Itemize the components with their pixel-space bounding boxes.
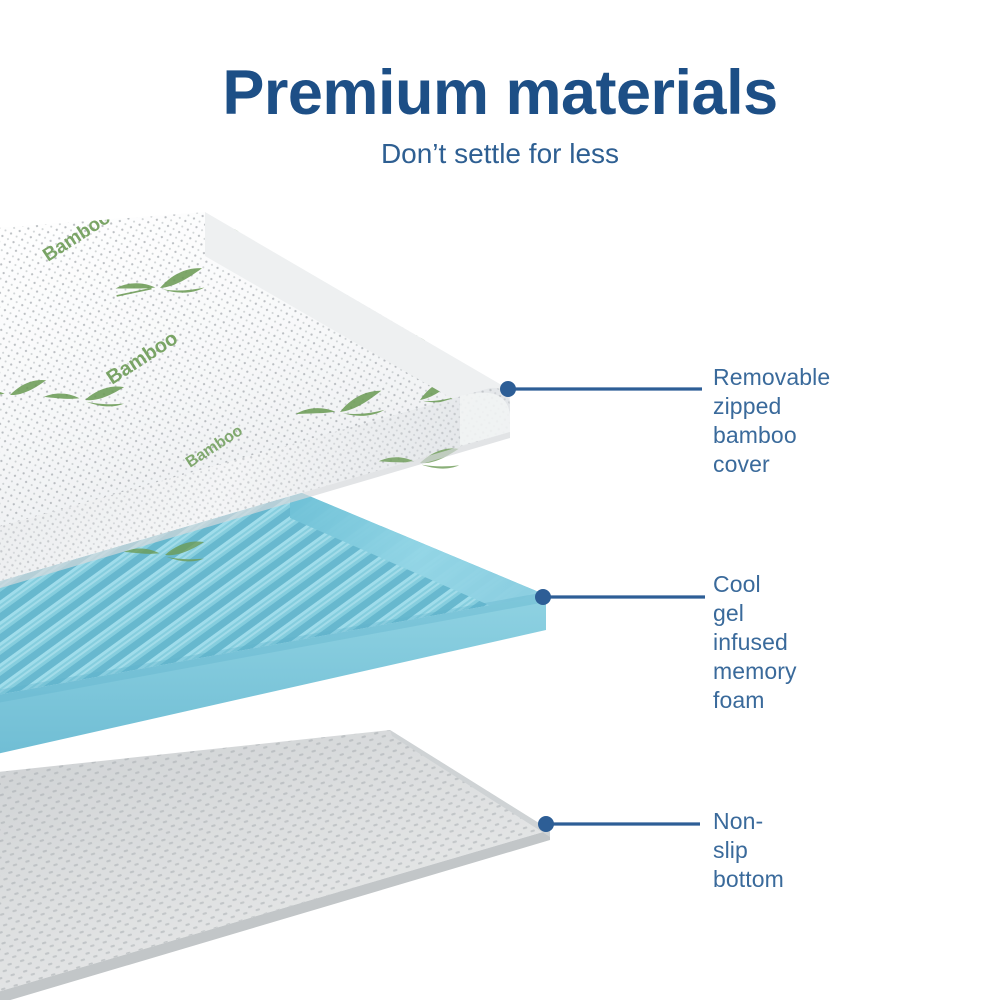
callout-label-bottom: Non-slip bottom: [713, 807, 784, 894]
leader-line-bottom-svg: [0, 0, 1000, 1000]
infographic-canvas: Premium materials Don’t settle for less: [0, 0, 1000, 1000]
marker-dot-bottom: [538, 816, 554, 832]
